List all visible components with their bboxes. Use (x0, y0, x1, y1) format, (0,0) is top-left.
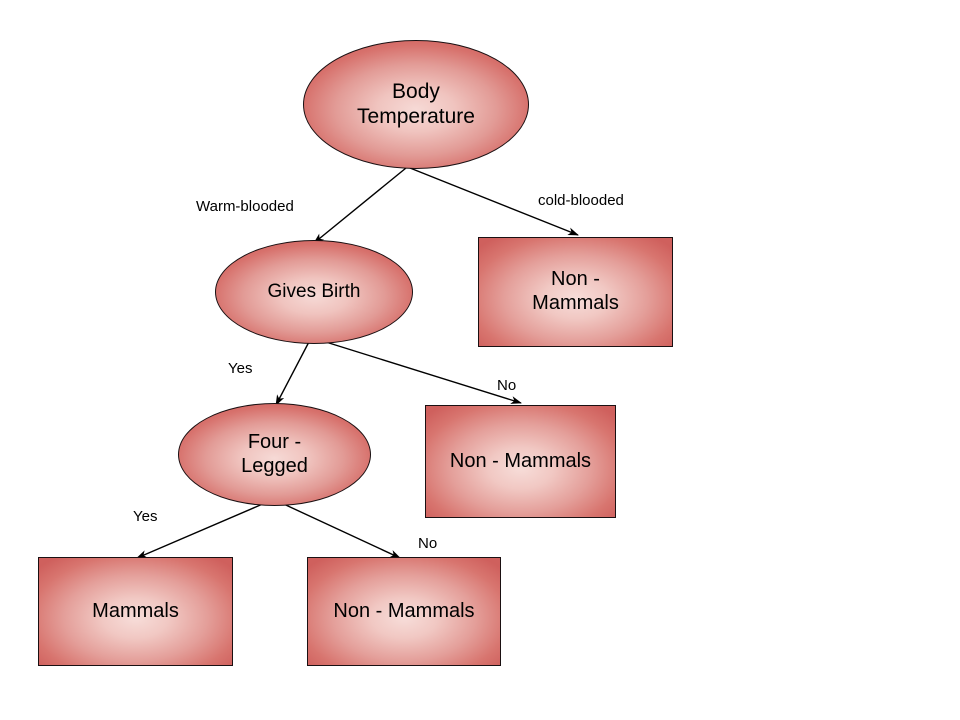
edge-four-legged-yes-label: Yes (133, 509, 157, 524)
edge-cold-blooded-label: cold-blooded (538, 193, 624, 208)
node-non-mammals-cold[interactable]: Non - Mammals (478, 237, 673, 347)
edge-gives-birth-no (313, 338, 521, 403)
node-mammals[interactable]: Mammals (38, 557, 233, 666)
edge-warm-blooded (314, 168, 406, 243)
node-gives-birth[interactable]: Gives Birth (215, 240, 413, 344)
edge-gives-birth-yes (276, 338, 311, 405)
edge-warm-blooded-label: Warm-blooded (196, 199, 294, 214)
edge-gives-birth-yes-label: Yes (228, 361, 252, 376)
diagram-canvas: Body TemperatureGives BirthNon - Mammals… (0, 0, 960, 720)
node-body-temperature[interactable]: Body Temperature (303, 40, 529, 169)
node-four-legged[interactable]: Four - Legged (178, 403, 371, 506)
edge-four-legged-no-label: No (418, 536, 437, 551)
edge-gives-birth-no-label: No (497, 378, 516, 393)
node-non-mammals-not-four-legged[interactable]: Non - Mammals (307, 557, 501, 666)
node-non-mammals-no-birth[interactable]: Non - Mammals (425, 405, 616, 518)
edge-four-legged-no (275, 500, 400, 558)
